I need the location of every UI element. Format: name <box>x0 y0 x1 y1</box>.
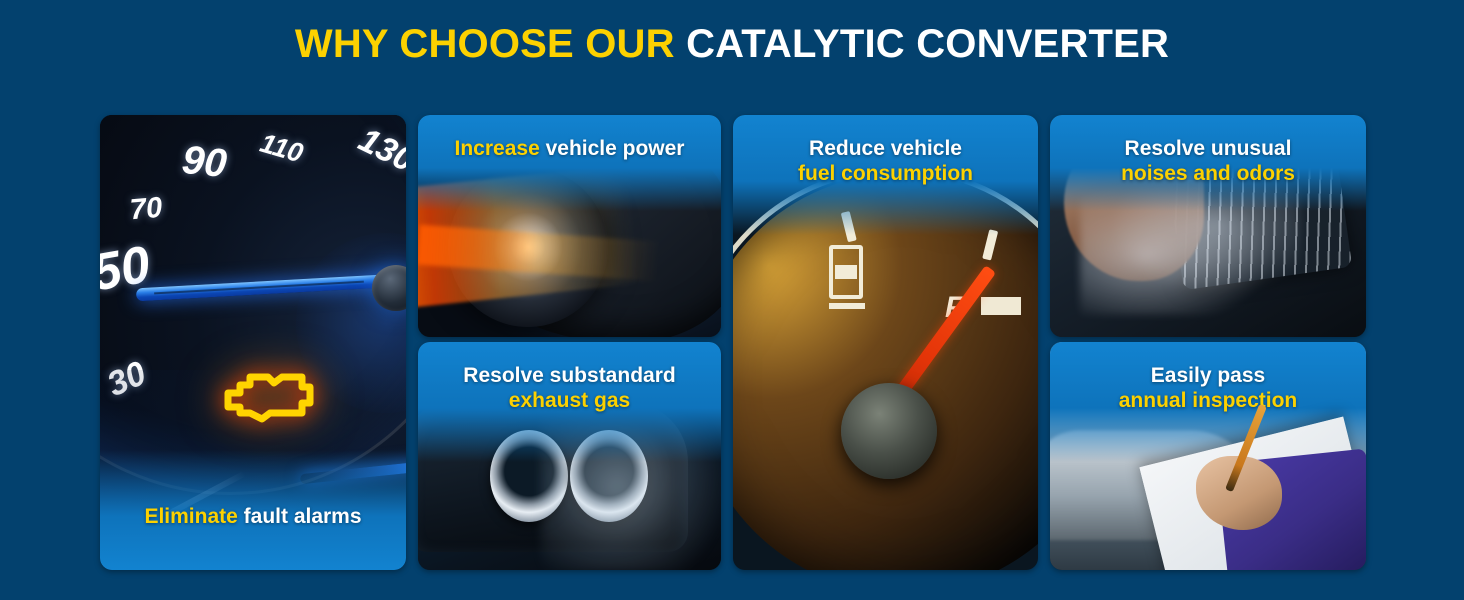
caption-yellow-text: exhaust gas <box>509 389 630 412</box>
check-engine-icon <box>210 363 330 433</box>
caption-white-text: vehicle power <box>546 137 685 160</box>
grid-column-3: F Reduce vehicle fuel consumption <box>733 115 1038 570</box>
caption-white-text: Easily pass <box>1151 364 1265 387</box>
card-caption: Easily pass annual inspection <box>1050 364 1366 414</box>
card-caption: Increase vehicle power <box>418 137 721 162</box>
caption-white-text: Reduce vehicle <box>809 137 962 160</box>
card-increase-vehicle-power[interactable]: Increase vehicle power <box>418 115 721 337</box>
card-caption: Reduce vehicle fuel consumption <box>733 137 1038 187</box>
card-eliminate-fault-alarms[interactable]: 130 110 90 70 50 30 Eliminate fault alar… <box>100 115 406 570</box>
benefit-card-grid: 130 110 90 70 50 30 Eliminate fault alar… <box>100 115 1364 570</box>
fuel-full-mark <box>981 297 1021 315</box>
caption-yellow-text: Eliminate <box>144 505 237 528</box>
caption-yellow-text: Increase <box>455 137 540 160</box>
caption-white-text: Resolve unusual <box>1125 137 1292 160</box>
page-title: WHY CHOOSE OUR CATALYTIC CONVERTER <box>0 22 1464 67</box>
caption-yellow-text: annual inspection <box>1119 389 1298 412</box>
card-easily-pass-annual-inspection[interactable]: Easily pass annual inspection <box>1050 342 1366 570</box>
speed-number-90: 90 <box>180 138 229 187</box>
caption-gradient <box>418 115 721 211</box>
fuel-pump-icon <box>829 245 863 299</box>
card-caption: Resolve substandard exhaust gas <box>418 364 721 414</box>
card-reduce-vehicle-fuel-consumption[interactable]: F Reduce vehicle fuel consumption <box>733 115 1038 570</box>
caption-yellow-text: noises and odors <box>1121 162 1295 185</box>
card-caption: Resolve unusual noises and odors <box>1050 137 1366 187</box>
card-caption: Eliminate fault alarms <box>100 505 406 530</box>
fuel-needle-hub <box>841 383 937 479</box>
card-resolve-substandard-exhaust-gas[interactable]: Resolve substandard exhaust gas <box>418 342 721 570</box>
caption-white-text: Resolve substandard <box>463 364 675 387</box>
promo-banner: WHY CHOOSE OUR CATALYTIC CONVERTER 130 <box>0 0 1464 600</box>
grid-column-2: Increase vehicle power Resolve substanda… <box>418 115 721 570</box>
speed-number-70: 70 <box>129 192 164 228</box>
title-accent-text: WHY CHOOSE OUR <box>295 22 675 66</box>
caption-yellow-text: fuel consumption <box>798 162 973 185</box>
title-main-text: CATALYTIC CONVERTER <box>686 22 1169 66</box>
grid-column-4: Resolve unusual noises and odors Easily … <box>1050 115 1366 570</box>
grid-column-1: 130 110 90 70 50 30 Eliminate fault alar… <box>100 115 406 570</box>
caption-white-text: fault alarms <box>244 505 362 528</box>
card-resolve-unusual-noises-and-odors[interactable]: Resolve unusual noises and odors <box>1050 115 1366 337</box>
